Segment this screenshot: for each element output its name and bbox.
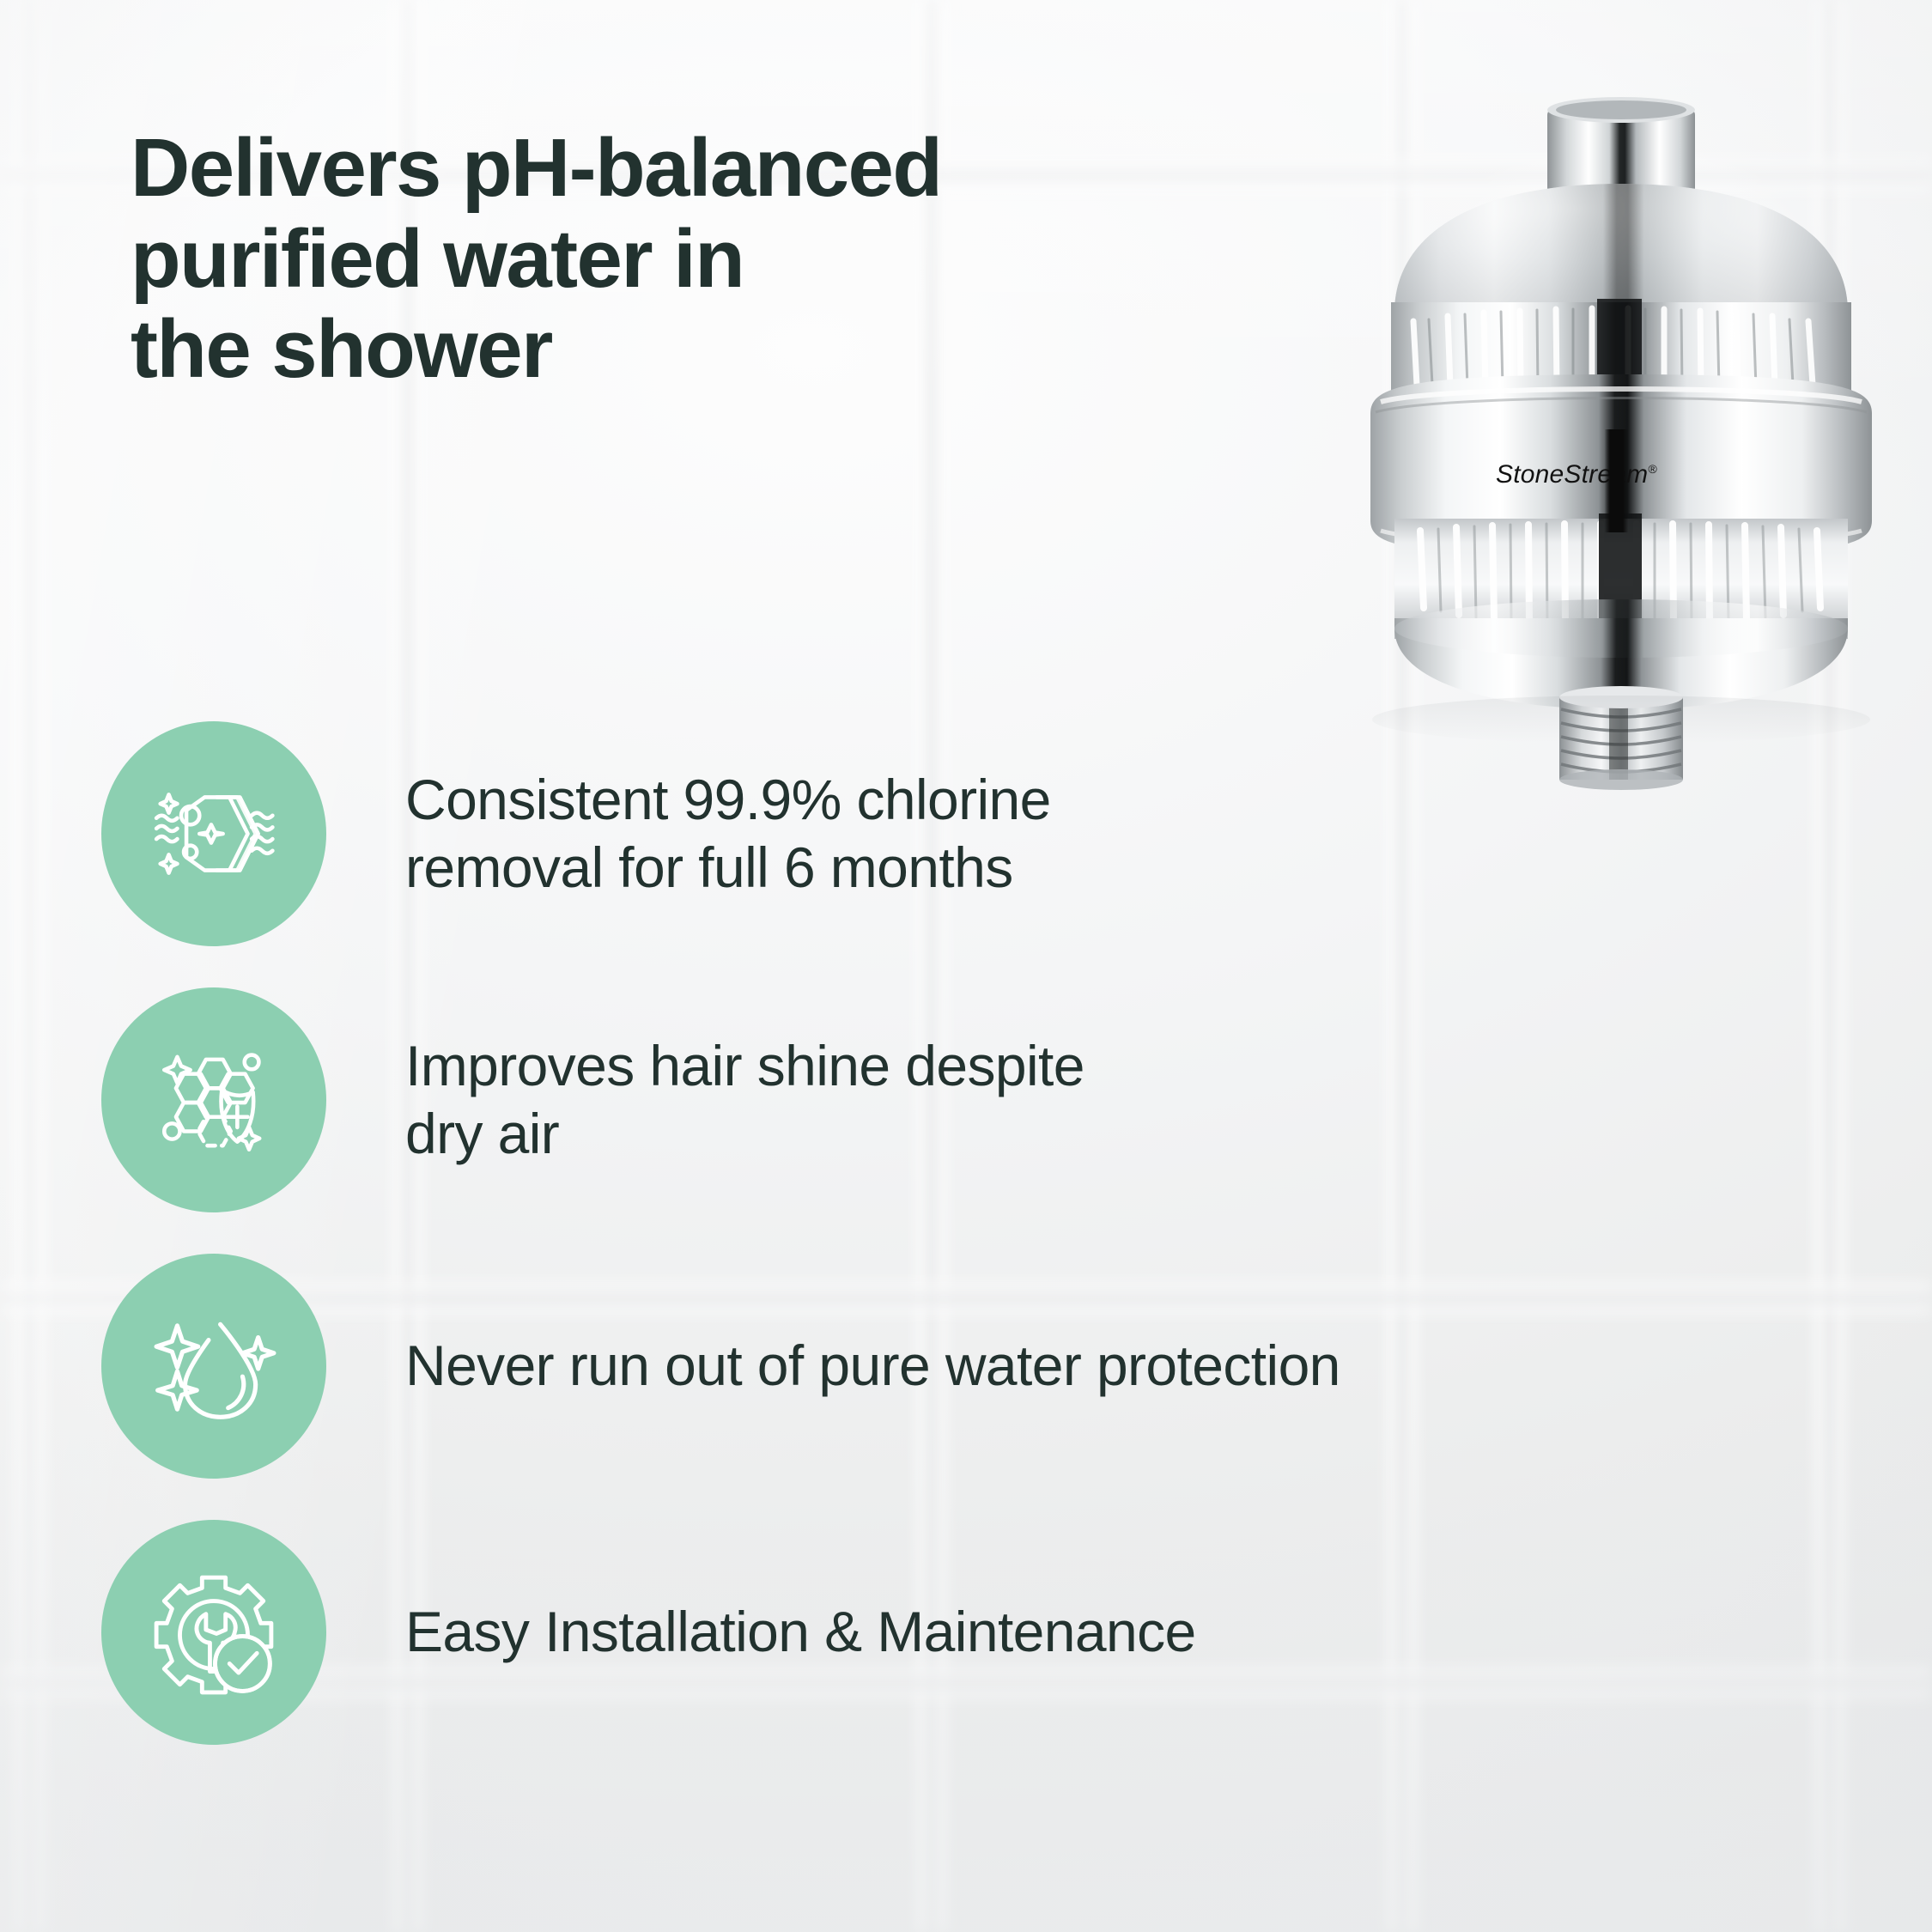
gear-wrench-check-icon: [149, 1567, 279, 1698]
page-title: Delivers pH-balanced purified water in t…: [131, 123, 1273, 395]
list-item: Easy Installation & Maintenance: [101, 1518, 1819, 1747]
headline-line-2: purified water in: [131, 214, 1273, 305]
list-item: Consistent 99.9% chlorine removal for fu…: [101, 720, 1819, 948]
feature-text-line: dry air: [405, 1100, 1084, 1168]
feature-icon-badge: [101, 1520, 326, 1745]
feature-text-line: removal for full 6 months: [405, 834, 1051, 902]
list-item: Never run out of pure water protection: [101, 1252, 1819, 1480]
feature-text: Never run out of pure water protection: [405, 1332, 1340, 1400]
feature-text-line: Consistent 99.9% chlorine: [405, 766, 1051, 834]
feature-text-line: Improves hair shine despite: [405, 1032, 1084, 1100]
feature-text: Easy Installation & Maintenance: [405, 1598, 1196, 1666]
list-item: Improves hair shine despite dry air: [101, 986, 1819, 1214]
feature-icon-badge: [101, 721, 326, 946]
feature-icon-badge: [101, 987, 326, 1212]
feature-text: Improves hair shine despite dry air: [405, 1032, 1084, 1168]
water-droplet-sparkle-icon: [149, 1301, 279, 1431]
feature-list: Consistent 99.9% chlorine removal for fu…: [101, 720, 1819, 1784]
headline-line-1: Delivers pH-balanced: [131, 123, 1273, 214]
product-photo-shower-filter: [1346, 82, 1896, 795]
headline-line-3: the shower: [131, 304, 1273, 395]
molecule-shield-icon: [149, 1035, 279, 1165]
feature-text: Consistent 99.9% chlorine removal for fu…: [405, 766, 1051, 902]
feature-text-line: Never run out of pure water protection: [405, 1332, 1340, 1400]
filter-layers-icon: [149, 769, 279, 899]
feature-icon-badge: [101, 1254, 326, 1479]
feature-text-line: Easy Installation & Maintenance: [405, 1598, 1196, 1666]
